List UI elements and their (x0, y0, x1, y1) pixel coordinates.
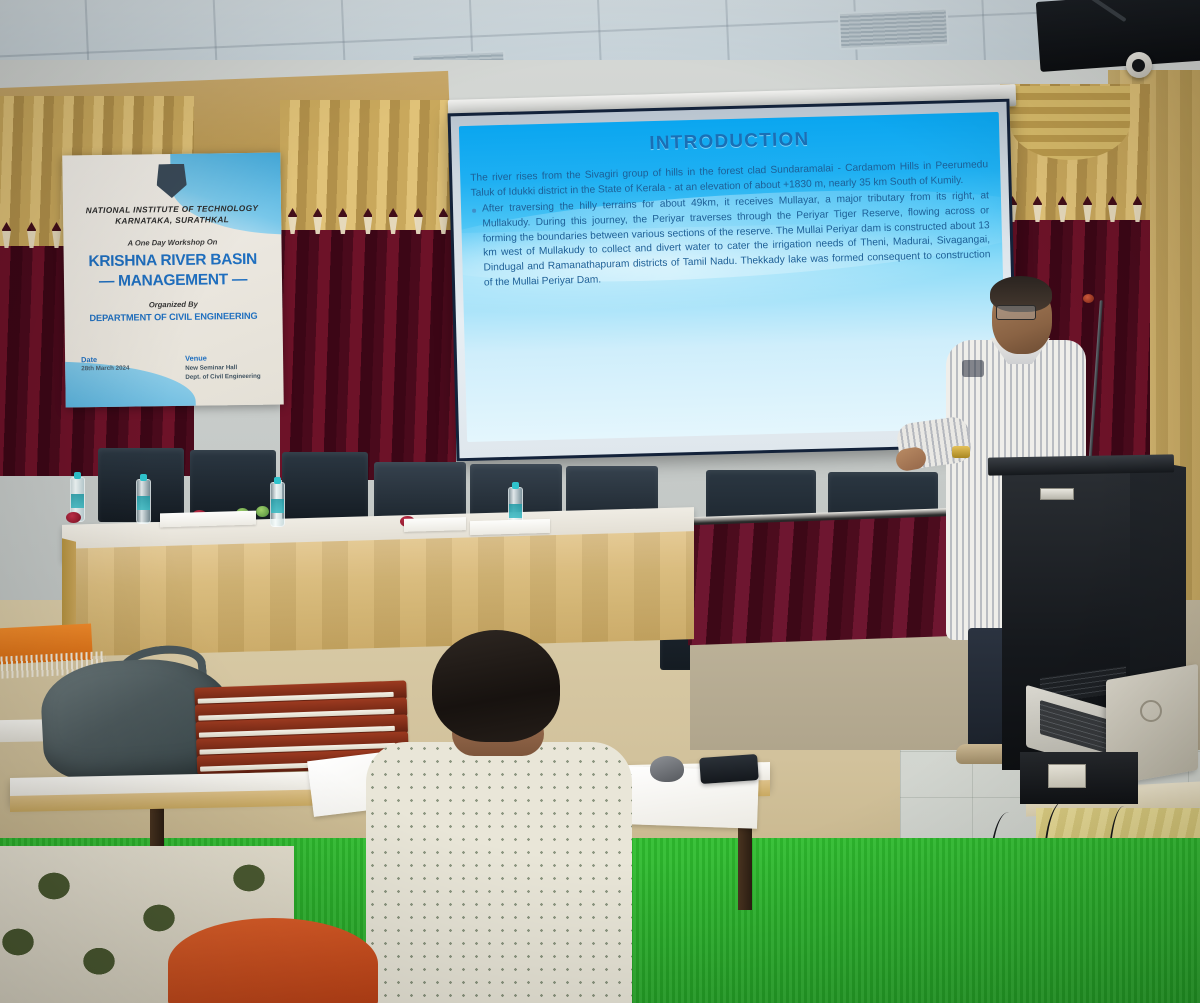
cctv-camera-icon (1126, 52, 1152, 78)
projector-screen-surface: INTRODUCTION The river rises from the Si… (451, 102, 1016, 458)
banner-institute-name: NATIONAL INSTITUTE OF TECHNOLOGY KARNATA… (63, 202, 281, 227)
presentation-slide: INTRODUCTION The river rises from the Si… (459, 112, 1007, 442)
banner-venue-line2: Dept. of Civil Engineering (185, 373, 260, 383)
attendee-head (432, 630, 560, 742)
banner-title-line2: — MANAGEMENT — (64, 270, 282, 291)
dais-table-front (62, 531, 694, 657)
paper-sheet (470, 519, 550, 535)
stage-skirt-maroon (688, 515, 988, 645)
slide-paragraph-2: After traversing the hilly terrains for … (471, 190, 991, 292)
banner-venue-label: Venue (185, 354, 207, 363)
banner-date-value: 28th March 2024 (81, 365, 129, 373)
curtain-center-left (280, 100, 456, 480)
speaker-wristwatch (952, 446, 970, 458)
equipment-label-sticker (1048, 764, 1086, 788)
banner-date-label: Date (81, 355, 97, 364)
microphone-head-icon (1083, 294, 1094, 303)
speaker-shirt-pocket (962, 360, 984, 377)
ceiling-vent-right (838, 8, 949, 51)
slide-body: The river rises from the Sivagiri group … (470, 158, 991, 291)
mobile-phone[interactable] (699, 754, 759, 784)
projector-screen: INTRODUCTION The river rises from the Si… (448, 99, 1019, 462)
curtain-valance-right-gold (1010, 86, 1130, 160)
stage-chair (282, 452, 368, 524)
banner-organized-by-label: Organized By (64, 298, 282, 310)
banner-subtitle: A One Day Workshop On (63, 236, 281, 248)
banner-title-line1: KRISHNA RIVER BASIN (64, 250, 282, 271)
wall-mounted-monitor (1036, 0, 1200, 72)
orange-chair (168, 918, 378, 1003)
laptop-brand-logo-icon (1140, 700, 1162, 722)
workshop-banner: NATIONAL INSTITUTE OF TECHNOLOGY KARNATA… (62, 152, 283, 407)
water-bottle (136, 479, 151, 524)
water-bottle (270, 482, 285, 527)
green-decor-item (256, 506, 269, 517)
paper-sheet (160, 511, 256, 528)
computer-mouse[interactable] (650, 756, 684, 782)
presentation-photo-scene: NATIONAL INSTITUTE OF TECHNOLOGY KARNATA… (0, 0, 1200, 1003)
podium-lectern-top (988, 454, 1174, 475)
podium-nameplate (1040, 488, 1074, 500)
speaker-glasses-icon (996, 305, 1036, 320)
banner-venue-value: New Seminar Hall Dept. of Civil Engineer… (185, 364, 261, 383)
rose-flower (66, 512, 81, 523)
slide-title: INTRODUCTION (459, 124, 999, 160)
attendee-body (366, 742, 632, 1003)
paper-sheet (404, 517, 466, 532)
banner-department: DEPARTMENT OF CIVIL ENGINEERING (64, 310, 282, 323)
